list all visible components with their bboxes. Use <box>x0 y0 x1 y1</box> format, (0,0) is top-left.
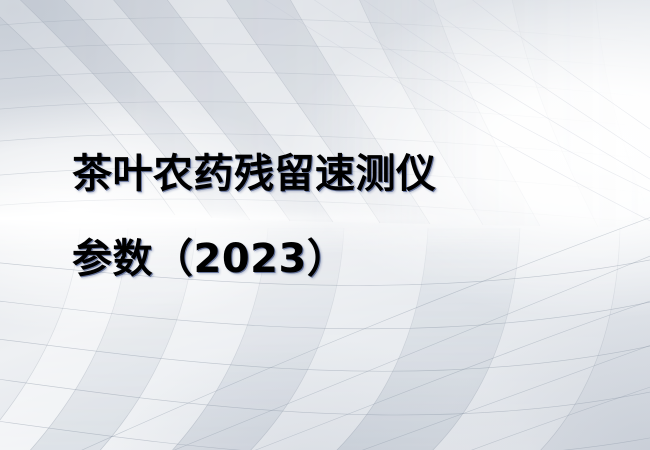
banner-title: 茶叶农药残留速测仪 参数（2023） <box>72 132 592 302</box>
title-line-1: 茶叶农药残留速测仪 <box>72 132 592 217</box>
title-banner: 茶叶农药残留速测仪 参数（2023） <box>0 0 650 450</box>
title-line-2: 参数（2023） <box>72 217 592 302</box>
